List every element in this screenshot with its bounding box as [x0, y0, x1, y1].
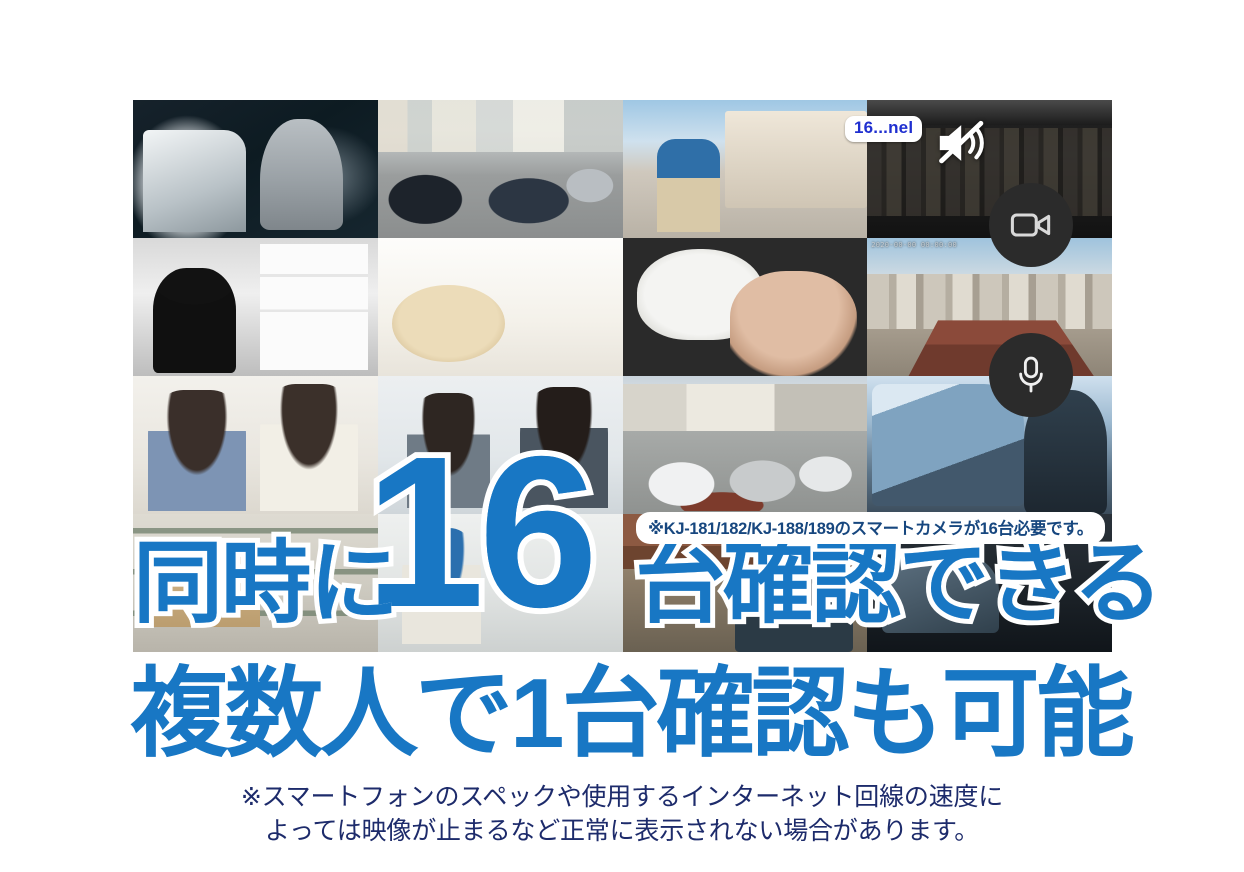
speaker-muted-icon[interactable] — [934, 118, 992, 168]
camera-cell[interactable] — [133, 238, 378, 376]
camera-feed-image — [133, 238, 378, 376]
camera-cell[interactable] — [133, 100, 378, 238]
camera-feed-image — [867, 238, 1112, 376]
camera-cell[interactable] — [378, 100, 623, 238]
camera-feed-image — [133, 376, 378, 514]
camera-cell[interactable] — [623, 238, 868, 376]
big-number: 16 — [365, 424, 592, 639]
camera-feed-image — [133, 100, 378, 238]
microphone-icon — [1015, 354, 1047, 396]
camera-cell[interactable] — [867, 376, 1112, 514]
camera-cell[interactable]: 2020-00-00 00:00:00 — [867, 238, 1112, 376]
microphone-button[interactable] — [989, 333, 1073, 417]
channel-name-badge: 16...nel — [845, 116, 922, 142]
camera-feed-image — [378, 238, 623, 376]
camera-grid-container: 2020-00-00 00:00:00 — [133, 100, 1112, 652]
headline-line-2: 複数人で1台確認も可能 — [130, 660, 1130, 766]
footnote-line-2: よっては映像が止まるなど正常に表示されない場合があります。 — [0, 814, 1244, 848]
camera-cell[interactable] — [623, 100, 868, 238]
footnote: ※スマートフォンのスペックや使用するインターネット回線の速度に よっては映像が止… — [0, 780, 1244, 848]
promo-page: 2020-00-00 00:00:00 16...nel 16 同時に 台確認で… — [0, 0, 1244, 872]
feed-timestamp: 2020-00-00 00:00:00 — [871, 241, 957, 249]
camera-cell[interactable] — [378, 238, 623, 376]
footnote-line-1: ※スマートフォンのスペックや使用するインターネット回線の速度に — [0, 780, 1244, 814]
camera-cell[interactable] — [133, 376, 378, 514]
camera-feed-image — [133, 514, 378, 652]
camera-cell[interactable] — [623, 376, 868, 514]
camera-requirement-note: ※KJ-181/182/KJ-188/189のスマートカメラが16台必要です。 — [636, 512, 1105, 544]
camera-feed-image — [623, 376, 868, 514]
camera-cell[interactable] — [133, 514, 378, 652]
camera-feed-image — [623, 238, 868, 376]
camera-feed-image — [623, 100, 868, 238]
camera-feed-image — [867, 376, 1112, 514]
camera-feed-image — [378, 100, 623, 238]
video-camera-button[interactable] — [989, 183, 1073, 267]
camera-grid: 2020-00-00 00:00:00 — [133, 100, 1112, 652]
video-camera-icon — [1010, 210, 1052, 240]
